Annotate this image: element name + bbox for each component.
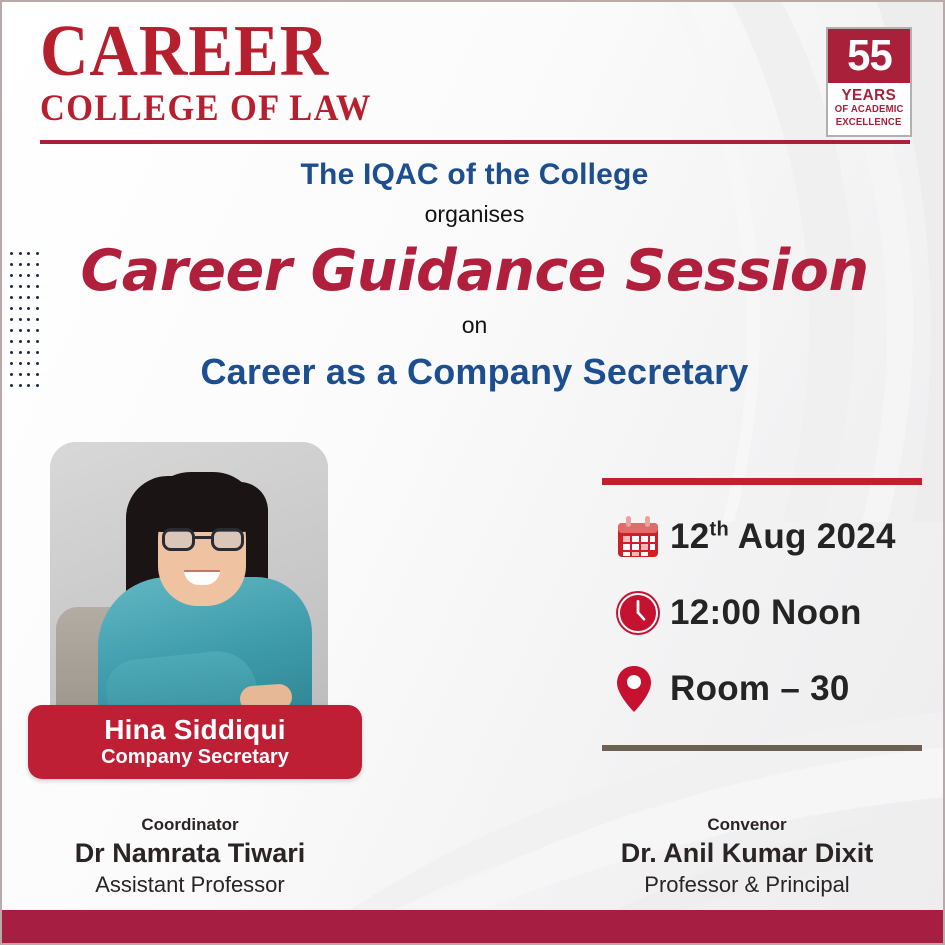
detail-row-date: 12th Aug 2024 <box>614 499 922 575</box>
on-label: on <box>2 312 945 340</box>
badge-years-label: YEARS <box>842 88 897 105</box>
college-name-main: CAREER <box>40 16 368 86</box>
clock-icon <box>614 589 670 637</box>
college-logo: CAREER COLLEGE OF LAW <box>40 16 397 129</box>
glasses-bridge <box>195 536 211 539</box>
event-topic: Career as a Company Secretary <box>2 350 945 393</box>
coordinator-role: Coordinator <box>40 814 340 835</box>
detail-row-venue: Room – 30 <box>614 651 922 727</box>
badge-caption-line2: EXCELLENCE <box>836 117 902 130</box>
convenor-name: Dr. Anil Kumar Dixit <box>577 837 917 869</box>
event-name: Career Guidance Session <box>2 239 945 305</box>
coordinator-name: Dr Namrata Tiwari <box>40 837 340 869</box>
badge-number: 55 <box>847 34 892 78</box>
speaker-name: Hina Siddiqui <box>104 715 285 746</box>
event-title-block: The IQAC of the College organises Career… <box>2 157 945 393</box>
photo-hair-top <box>146 472 258 532</box>
badge-caption-line1: OF ACADEMIC <box>835 104 904 117</box>
badge-number-block: 55 <box>828 29 910 83</box>
footer-convenor: Convenor Dr. Anil Kumar Dixit Professor … <box>577 814 917 898</box>
badge-caption-block: YEARS OF ACADEMIC EXCELLENCE <box>828 83 910 135</box>
event-date-month-year: Aug 2024 <box>729 517 896 556</box>
location-pin-icon <box>614 664 670 714</box>
details-bottom-rule <box>602 745 922 751</box>
details-top-rule <box>602 478 922 485</box>
speaker-photo <box>50 442 328 727</box>
poster-header: CAREER COLLEGE OF LAW 55 YEARS OF ACADEM… <box>2 2 945 150</box>
convenor-title: Professor & Principal <box>577 871 917 899</box>
event-date-day: 12 <box>670 517 710 556</box>
calendar-icon <box>614 514 670 560</box>
event-date-ordinal: th <box>710 518 729 540</box>
header-divider-rule <box>40 140 910 144</box>
lens-right <box>211 528 244 551</box>
lens-left <box>162 528 195 551</box>
event-details-block: 12th Aug 2024 12:00 Noon <box>602 478 922 751</box>
speaker-role: Company Secretary <box>101 746 289 769</box>
event-poster: CAREER COLLEGE OF LAW 55 YEARS OF ACADEM… <box>0 0 945 945</box>
poster-footer: Coordinator Dr Namrata Tiwari Assistant … <box>2 814 945 914</box>
organises-label: organises <box>2 201 945 229</box>
event-time: 12:00 Noon <box>670 593 862 633</box>
footer-accent-bar <box>2 910 945 943</box>
organiser-line: The IQAC of the College <box>2 157 945 193</box>
coordinator-title: Assistant Professor <box>40 871 340 899</box>
details-rows: 12th Aug 2024 12:00 Noon <box>602 485 922 731</box>
speaker-nameplate: Hina Siddiqui Company Secretary <box>28 705 362 779</box>
anniversary-badge: 55 YEARS OF ACADEMIC EXCELLENCE <box>826 27 912 137</box>
convenor-role: Convenor <box>577 814 917 835</box>
college-name-sub: COLLEGE OF LAW <box>40 90 372 129</box>
detail-row-time: 12:00 Noon <box>614 575 922 651</box>
event-venue: Room – 30 <box>670 669 850 709</box>
footer-coordinator: Coordinator Dr Namrata Tiwari Assistant … <box>40 814 340 898</box>
event-date: 12th Aug 2024 <box>670 517 896 557</box>
eyeglasses-icon <box>162 528 244 552</box>
speaker-photo-frame <box>50 442 328 727</box>
